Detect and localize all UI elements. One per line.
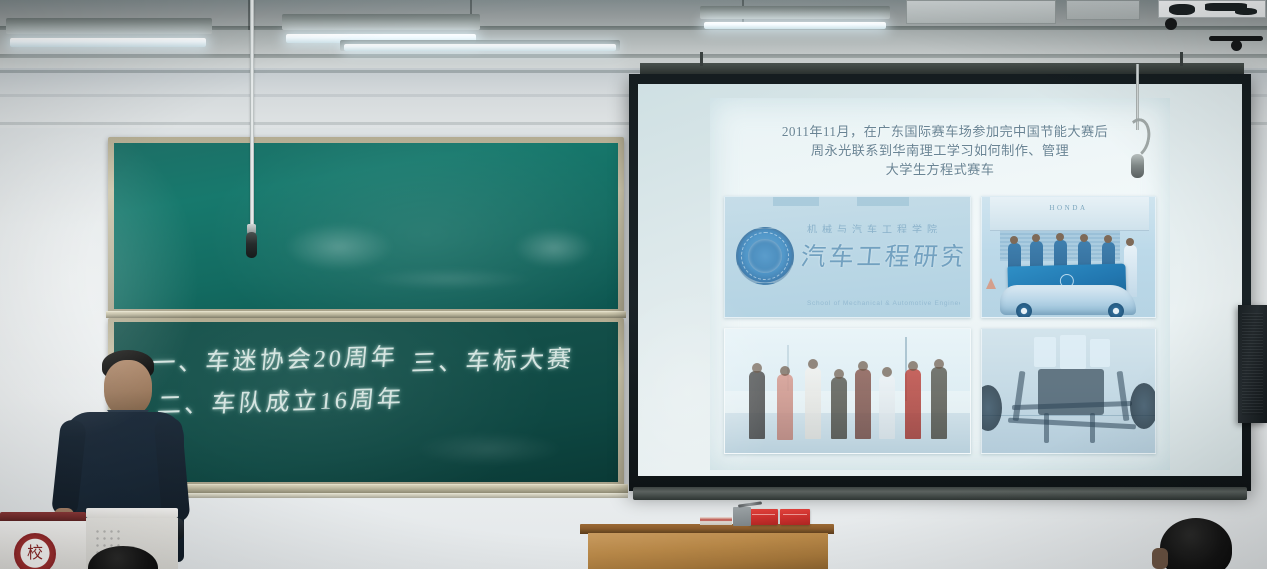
slide-title-line-3: 大学生方程式赛车	[710, 160, 1170, 179]
desk-front-panel	[588, 533, 828, 569]
slide-title-line-2: 周永光联系到华南理工学习如何制作、管理	[710, 141, 1170, 160]
desk-red-box-left[interactable]	[749, 509, 778, 525]
lectern-university-seal: 校	[14, 533, 56, 569]
scut-seal-icon	[736, 227, 794, 285]
boom-microphone	[1131, 154, 1144, 178]
light-fixture-housing-2	[282, 14, 480, 30]
audience-neck-right	[1152, 548, 1168, 569]
slide-photo-group	[724, 328, 971, 454]
honda-sign-text: HONDA	[982, 204, 1155, 212]
lecture-hall-scene: 一、车迷协会20周年 二、车队成立16周年 三、车标大赛 2011年11月，在广…	[0, 0, 1267, 569]
desk-red-box-right[interactable]	[780, 509, 810, 525]
chalk-note-3: 三、车标大赛	[410, 339, 576, 379]
desk-book-stack[interactable]	[700, 517, 732, 525]
light-fixture-housing-4	[700, 6, 890, 19]
wall-speaker	[1238, 305, 1267, 423]
light-fixture-housing-1	[6, 18, 212, 34]
slide-photo-team-ecocar: HONDA 中北大学	[981, 196, 1156, 318]
chalk-ledge-upper	[106, 311, 626, 318]
banner-english-text: School of Mechanical & Automotive Engine…	[807, 300, 960, 307]
fluorescent-tube-4	[704, 22, 886, 29]
lectern-seal-glyph: 校	[27, 546, 43, 562]
slide-title-line-1: 2011年11月，在广东国际赛车场参加完中国节能大赛后	[720, 122, 1170, 141]
fluorescent-tube-1	[10, 38, 206, 47]
desk-gray-device[interactable]	[733, 507, 751, 526]
hanging-microphone	[246, 232, 257, 258]
projection-surface: 2011年11月，在广东国际赛车场参加完中国节能大赛后 周永光联系到华南理工学习…	[638, 84, 1242, 476]
lectern-top-extension	[86, 508, 178, 518]
projection-screen[interactable]: 2011年11月，在广东国际赛车场参加完中国节能大赛后 周永光联系到华南理工学习…	[629, 74, 1251, 491]
hanging-mic-rod	[250, 0, 254, 228]
banner-small-text: 机械与汽车工程学院	[807, 221, 958, 233]
poster-stand-1	[1165, 18, 1177, 30]
poster-stand-3	[1231, 40, 1242, 51]
wall-poster	[1158, 0, 1266, 18]
slide-photo-chassis	[981, 328, 1156, 454]
banner-big-text: 汽车工程研究中心	[799, 237, 964, 273]
ceiling-vent	[906, 0, 1056, 24]
ceiling-vent-2	[1066, 0, 1140, 20]
fluorescent-tube-3	[344, 44, 616, 51]
screen-roller-bar[interactable]	[633, 487, 1247, 500]
screen-hook-right	[1180, 52, 1183, 66]
screen-hook-left	[700, 52, 703, 66]
presentation-slide: 2011年11月，在广东国际赛车场参加完中国节能大赛后 周永光联系到华南理工学习…	[710, 98, 1170, 470]
blackboard-upper	[114, 143, 618, 309]
slide-title-block: 2011年11月，在广东国际赛车场参加完中国节能大赛后 周永光联系到华南理工学习…	[710, 122, 1170, 179]
presenter-head	[104, 360, 152, 416]
audience-head-right	[1160, 518, 1232, 569]
slide-photo-grid: 机械与汽车工程学院 汽车工程研究中心 School of Mechanical …	[724, 196, 1156, 454]
slide-photo-banner: 机械与汽车工程学院 汽车工程研究中心 School of Mechanical …	[724, 196, 971, 318]
